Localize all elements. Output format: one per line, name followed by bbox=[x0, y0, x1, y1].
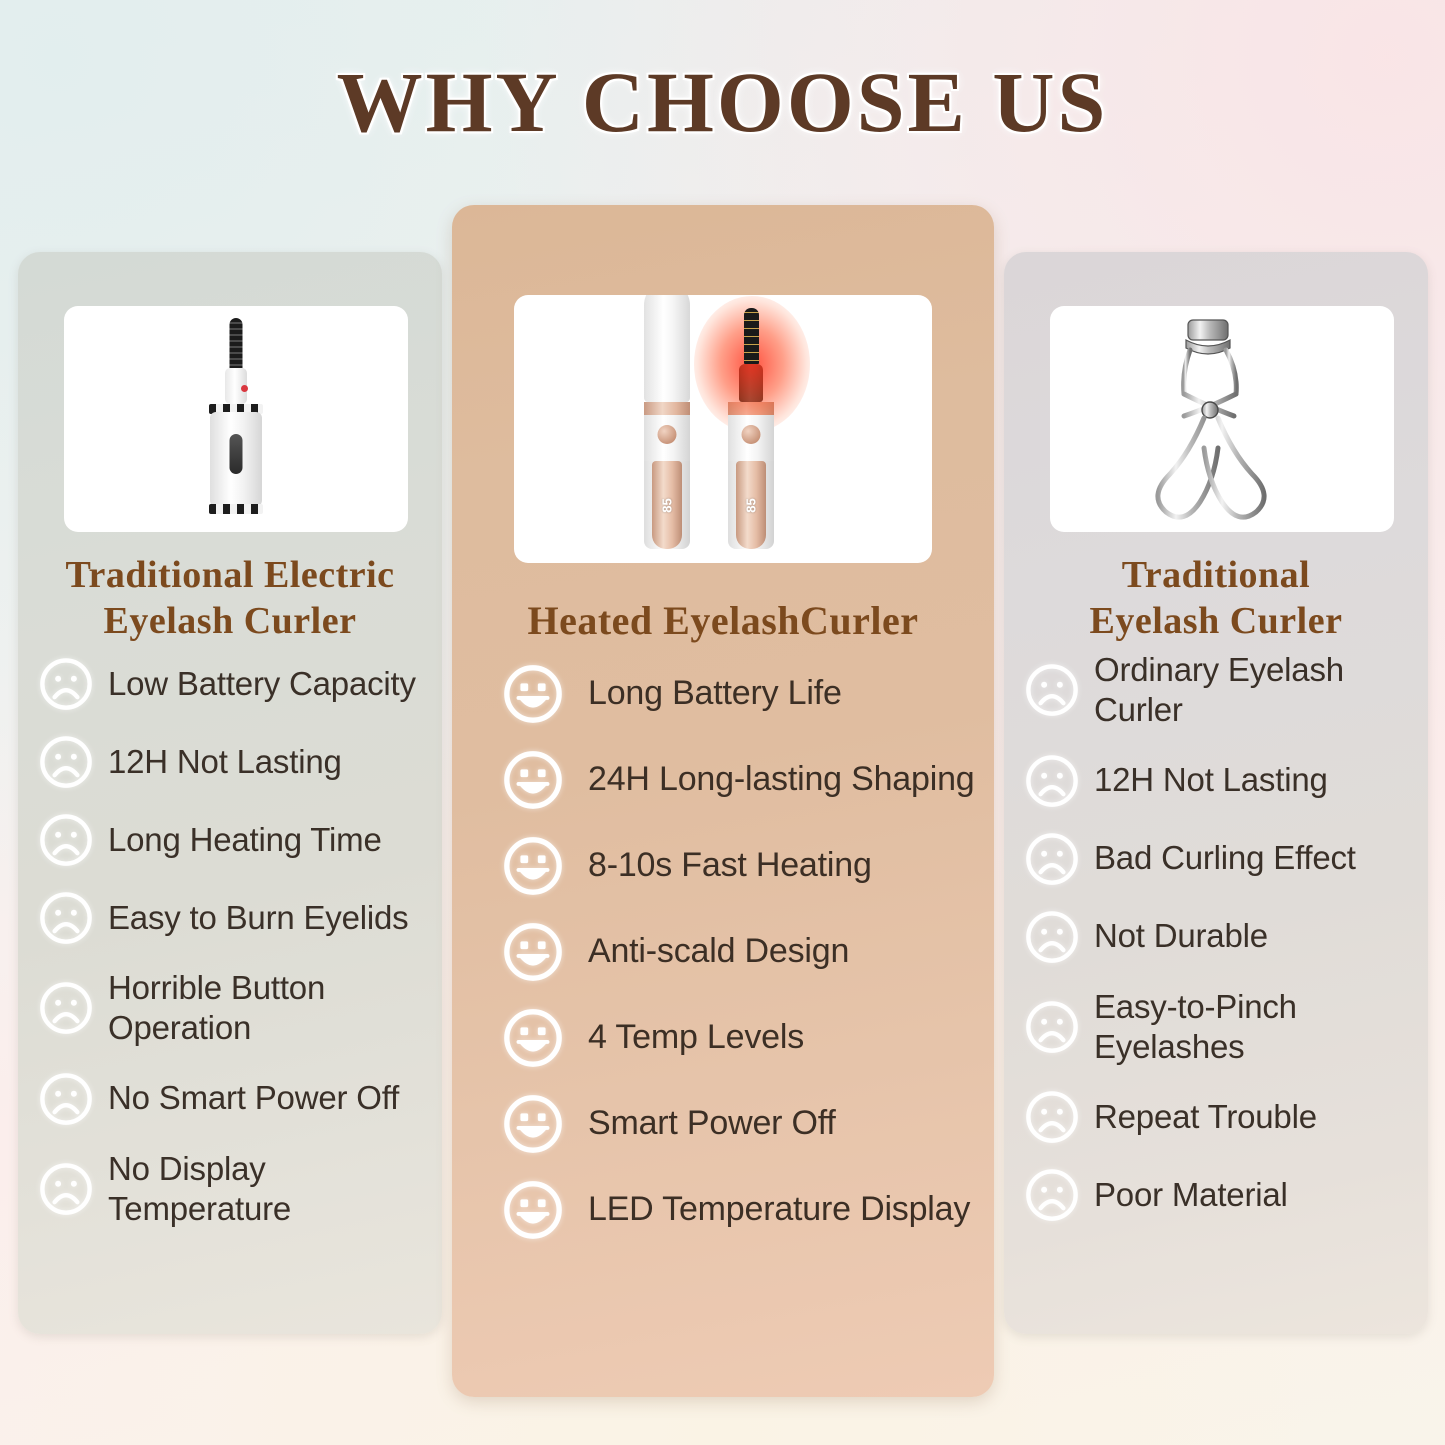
wand-button-icon bbox=[230, 434, 243, 474]
column-heading-heated-eyelash-curler: Heated EyelashCurler bbox=[452, 597, 994, 646]
feature-item: Poor Material bbox=[1024, 1167, 1422, 1223]
feature-label: Horrible Button Operation bbox=[108, 968, 436, 1049]
feature-item: 24H Long-lasting Shaping bbox=[502, 749, 982, 811]
feature-label: 12H Not Lasting bbox=[108, 742, 342, 782]
feature-list-heated-eyelash-curler: Long Battery Life24H Long-lasting Shapin… bbox=[452, 663, 994, 1241]
feature-label: 4 Temp Levels bbox=[588, 1017, 804, 1058]
smiley-face-icon bbox=[502, 749, 564, 811]
sad-face-icon bbox=[38, 734, 94, 790]
pen-power-knob-icon bbox=[658, 425, 677, 444]
pen-ring bbox=[728, 402, 774, 415]
column-heading-traditional-manual: Traditional Eyelash Curler bbox=[1004, 552, 1428, 645]
feature-item: 8-10s Fast Heating bbox=[502, 835, 982, 897]
sad-face-icon bbox=[38, 1161, 94, 1217]
sad-face-icon bbox=[1024, 753, 1080, 809]
feature-label: Repeat Trouble bbox=[1094, 1097, 1317, 1137]
sad-face-icon bbox=[1024, 909, 1080, 965]
column-heading-line-2: Eyelash Curler bbox=[26, 598, 434, 644]
eyelash-curler-icon bbox=[1050, 306, 1394, 532]
feature-item: No Smart Power Off bbox=[38, 1071, 436, 1127]
product-photo-heated-eyelash-curler: 85 85 bbox=[514, 295, 932, 563]
feature-item: Anti-scald Design bbox=[502, 921, 982, 983]
heated-pen-open: 85 bbox=[728, 308, 774, 549]
feature-item: Low Battery Capacity bbox=[38, 656, 436, 712]
feature-label: Easy to Burn Eyelids bbox=[108, 898, 408, 938]
heated-pen-closed: 85 bbox=[644, 295, 690, 549]
feature-item: Bad Curling Effect bbox=[1024, 831, 1422, 887]
pen-cap bbox=[644, 295, 690, 402]
sad-face-icon bbox=[1024, 831, 1080, 887]
smiley-face-icon bbox=[502, 1179, 564, 1241]
feature-label: 24H Long-lasting Shaping bbox=[588, 759, 974, 800]
feature-item: 12H Not Lasting bbox=[38, 734, 436, 790]
smiley-face-icon bbox=[502, 835, 564, 897]
feature-item: Easy-to-Pinch Eyelashes bbox=[1024, 987, 1422, 1068]
feature-label: Low Battery Capacity bbox=[108, 664, 416, 704]
comparison-card-traditional-electric: Traditional Electric Eyelash Curler Low … bbox=[18, 252, 442, 1334]
feature-label: Long Heating Time bbox=[108, 820, 382, 860]
column-heading-line-2: Eyelash Curler bbox=[1012, 598, 1420, 644]
infographic-page: WHY CHOOSE US Traditional Electric Eyela… bbox=[0, 0, 1445, 1445]
sad-face-icon bbox=[1024, 662, 1080, 718]
pen-lower-body: 85 bbox=[644, 461, 690, 549]
feature-label: LED Temperature Display bbox=[588, 1189, 970, 1230]
feature-item: Repeat Trouble bbox=[1024, 1089, 1422, 1145]
feature-item: No Display Temperature bbox=[38, 1149, 436, 1230]
feature-item: LED Temperature Display bbox=[502, 1179, 982, 1241]
feature-item: Smart Power Off bbox=[502, 1093, 982, 1155]
feature-item: Easy to Burn Eyelids bbox=[38, 890, 436, 946]
feature-label: 12H Not Lasting bbox=[1094, 760, 1328, 800]
product-photo-traditional-electric bbox=[64, 306, 408, 532]
sad-face-icon bbox=[1024, 1089, 1080, 1145]
sad-face-icon bbox=[38, 890, 94, 946]
feature-label: Not Durable bbox=[1094, 916, 1268, 956]
feature-item: 12H Not Lasting bbox=[1024, 753, 1422, 809]
smiley-face-icon bbox=[502, 921, 564, 983]
feature-label: No Smart Power Off bbox=[108, 1078, 399, 1118]
sad-face-icon bbox=[38, 980, 94, 1036]
feature-label: Easy-to-Pinch Eyelashes bbox=[1094, 987, 1422, 1068]
pen-temperature-value: 85 bbox=[744, 498, 759, 512]
sad-face-icon bbox=[38, 812, 94, 868]
feature-label: Poor Material bbox=[1094, 1175, 1288, 1215]
feature-label: No Display Temperature bbox=[108, 1149, 436, 1230]
feature-label: 8-10s Fast Heating bbox=[588, 845, 872, 886]
sad-face-icon bbox=[38, 656, 94, 712]
pen-upper-body bbox=[644, 415, 690, 461]
comparison-card-heated-eyelash-curler: 85 85 Heated Eyel bbox=[452, 205, 994, 1397]
smiley-face-icon bbox=[502, 1093, 564, 1155]
page-title: WHY CHOOSE US bbox=[0, 52, 1445, 152]
wand-indicator-led-icon bbox=[241, 385, 248, 392]
manual-curler-illustration bbox=[1050, 306, 1394, 532]
product-photo-traditional-manual bbox=[1050, 306, 1394, 532]
feature-list-traditional-manual: Ordinary Eyelash Curler12H Not LastingBa… bbox=[1004, 650, 1428, 1223]
pen-led-screen: 85 bbox=[652, 461, 682, 549]
feature-item: 4 Temp Levels bbox=[502, 1007, 982, 1069]
feature-item: Ordinary Eyelash Curler bbox=[1024, 650, 1422, 731]
sad-face-icon bbox=[38, 1071, 94, 1127]
pen-led-screen: 85 bbox=[736, 461, 766, 549]
feature-item: Long Heating Time bbox=[38, 812, 436, 868]
feature-list-traditional-electric: Low Battery Capacity12H Not LastingLong … bbox=[18, 656, 442, 1229]
pen-power-knob-icon bbox=[742, 425, 761, 444]
heated-brush-head-icon bbox=[744, 308, 759, 364]
pen-ring bbox=[644, 402, 690, 415]
wand-band-bottom bbox=[209, 504, 263, 514]
sad-face-icon bbox=[1024, 999, 1080, 1055]
comparison-card-traditional-manual: Traditional Eyelash Curler Ordinary Eyel… bbox=[1004, 252, 1428, 1334]
pen-lower-body: 85 bbox=[728, 461, 774, 549]
column-heading-line-1: Heated EyelashCurler bbox=[460, 597, 986, 646]
column-heading-line-1: Traditional Electric bbox=[26, 552, 434, 598]
feature-label: Ordinary Eyelash Curler bbox=[1094, 650, 1422, 731]
smiley-face-icon bbox=[502, 1007, 564, 1069]
feature-label: Smart Power Off bbox=[588, 1103, 836, 1144]
feature-label: Long Battery Life bbox=[588, 673, 842, 714]
feature-item: Long Battery Life bbox=[502, 663, 982, 725]
pen-upper-body bbox=[728, 415, 774, 461]
column-heading-traditional-electric: Traditional Electric Eyelash Curler bbox=[18, 552, 442, 645]
feature-label: Anti-scald Design bbox=[588, 931, 849, 972]
smiley-face-icon bbox=[502, 663, 564, 725]
column-heading-line-1: Traditional bbox=[1012, 552, 1420, 598]
feature-item: Horrible Button Operation bbox=[38, 968, 436, 1049]
feature-item: Not Durable bbox=[1024, 909, 1422, 965]
sad-face-icon bbox=[1024, 1167, 1080, 1223]
brush-neck bbox=[739, 364, 763, 402]
feature-label: Bad Curling Effect bbox=[1094, 838, 1356, 878]
wand-bristle-head-icon bbox=[230, 318, 243, 374]
pen-temperature-value: 85 bbox=[660, 498, 675, 512]
